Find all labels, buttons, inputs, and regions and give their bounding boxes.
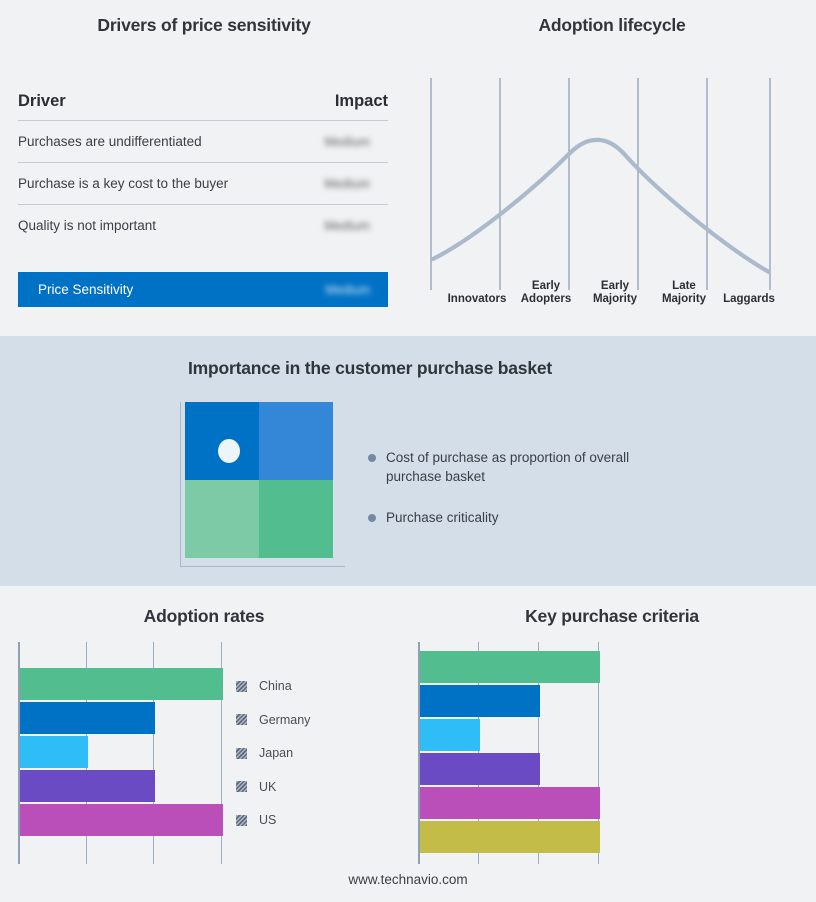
quadrant-position-marker: [218, 439, 240, 463]
adoption-lifecycle-chart: [430, 78, 794, 310]
legend-label: Japan: [259, 746, 293, 760]
legend-item: Cost of purchase as proportion of overal…: [368, 448, 668, 486]
price-sensitivity-highlight-row: Price Sensitivity Medium: [18, 272, 388, 307]
legend-item: UK: [236, 770, 396, 804]
hatched-swatch-icon: [236, 714, 247, 725]
column-header-driver: Driver: [18, 92, 66, 111]
bar-row: [20, 736, 223, 768]
impact-value: Medium: [324, 219, 388, 233]
bar-row: [420, 651, 600, 683]
table-row: Purchases are undifferentiated Medium: [18, 121, 388, 163]
drivers-of-price-sensitivity-card: Drivers of price sensitivity Driver Impa…: [0, 0, 408, 336]
stage-label-line1: Late: [638, 280, 730, 293]
adoption-rates-legend: ChinaGermanyJapanUKUS: [236, 642, 396, 864]
legend-item: China: [236, 669, 396, 703]
adoption-bars-group: [20, 642, 223, 864]
bar-row: [420, 787, 600, 819]
driver-label: Quality is not important: [18, 218, 156, 233]
lifecycle-stage-laggards: Laggards: [706, 293, 792, 306]
legend-label: Purchase criticality: [386, 508, 499, 527]
lifecycle-bell-curve: [433, 140, 769, 272]
bottom-section: Adoption rates ChinaGermanyJapanUKUS Key…: [0, 586, 816, 902]
hatched-swatch-icon: [236, 781, 247, 792]
hatched-swatch-icon: [236, 815, 247, 826]
top-section: Drivers of price sensitivity Driver Impa…: [0, 0, 816, 336]
quadrant-x-axis: [180, 566, 345, 567]
bar-row: [420, 719, 600, 751]
quadrant-cell-bottom-left: [185, 480, 259, 558]
hatched-swatch-icon: [236, 681, 247, 692]
quadrant-figure: [180, 402, 340, 567]
bar-row: [20, 668, 223, 700]
key-purchase-criteria-title: Key purchase criteria: [408, 606, 816, 627]
bar-row: [420, 821, 600, 853]
adoption-rates-card: Adoption rates ChinaGermanyJapanUKUS: [0, 586, 408, 902]
table-row: Purchase is a key cost to the buyer Medi…: [18, 163, 388, 205]
driver-label: Purchases are undifferentiated: [18, 134, 202, 149]
quadrant-y-axis: [180, 402, 181, 567]
legend-label: Germany: [259, 713, 310, 727]
stage-label-line1: Laggards: [706, 293, 792, 306]
legend-item: Japan: [236, 736, 396, 770]
table-row: Quality is not important Medium: [18, 205, 388, 246]
highlight-driver-label: Price Sensitivity: [38, 282, 133, 297]
key-purchase-criteria-card: Key purchase criteria InnovationPriceQua…: [408, 586, 816, 902]
legend-label: UK: [259, 780, 276, 794]
bar-row: [20, 702, 223, 734]
purchase-basket-section: Importance in the customer purchase bask…: [0, 336, 816, 586]
hatched-swatch-icon: [236, 748, 247, 759]
adoption-rates-chart: [18, 642, 223, 864]
criteria-bars-group: [420, 642, 600, 864]
bar: [420, 787, 600, 819]
key-purchase-criteria-chart: [418, 642, 600, 864]
bar: [420, 821, 600, 853]
impact-value: Medium: [324, 135, 388, 149]
legend-label: US: [259, 813, 276, 827]
bar-row: [420, 753, 600, 785]
bar: [20, 804, 223, 836]
lifecycle-gridlines: [431, 78, 770, 290]
bar: [420, 685, 540, 717]
bar: [20, 702, 155, 734]
bar-row: [420, 685, 600, 717]
legend-item: US: [236, 803, 396, 837]
legend-item: Germany: [236, 703, 396, 737]
legend-item: Purchase criticality: [368, 508, 668, 527]
bar: [20, 770, 155, 802]
bar: [420, 719, 480, 751]
adoption-lifecycle-card: Adoption lifecycle Innovators Early Adop…: [408, 0, 816, 336]
driver-label: Purchase is a key cost to the buyer: [18, 176, 228, 191]
quadrant-cell-bottom-right: [259, 480, 333, 558]
legend-label: Cost of purchase as proportion of overal…: [386, 448, 646, 486]
adoption-lifecycle-title: Adoption lifecycle: [408, 15, 816, 36]
quadrant-grid: [185, 402, 333, 558]
impact-value: Medium: [324, 177, 388, 191]
table-header-row: Driver Impact: [18, 92, 388, 121]
bar: [20, 668, 223, 700]
drivers-title: Drivers of price sensitivity: [0, 15, 408, 36]
bullet-dot-icon: [368, 454, 376, 462]
column-header-impact: Impact: [335, 92, 388, 111]
bar: [20, 736, 88, 768]
adoption-rates-title: Adoption rates: [0, 606, 408, 627]
highlight-impact-value: Medium: [326, 283, 388, 297]
bar: [420, 651, 600, 683]
quadrant-cell-top-right: [259, 402, 333, 480]
bar: [420, 753, 540, 785]
footer-url: www.technavio.com: [0, 872, 816, 887]
bar-row: [20, 804, 223, 836]
basket-legend: Cost of purchase as proportion of overal…: [368, 448, 668, 549]
importance-in-purchase-basket-card: Importance in the customer purchase bask…: [0, 336, 816, 586]
basket-title: Importance in the customer purchase bask…: [0, 358, 740, 379]
bullet-dot-icon: [368, 514, 376, 522]
bar-row: [20, 770, 223, 802]
legend-label: China: [259, 679, 292, 693]
drivers-table: Driver Impact Purchases are undifferenti…: [18, 92, 388, 246]
